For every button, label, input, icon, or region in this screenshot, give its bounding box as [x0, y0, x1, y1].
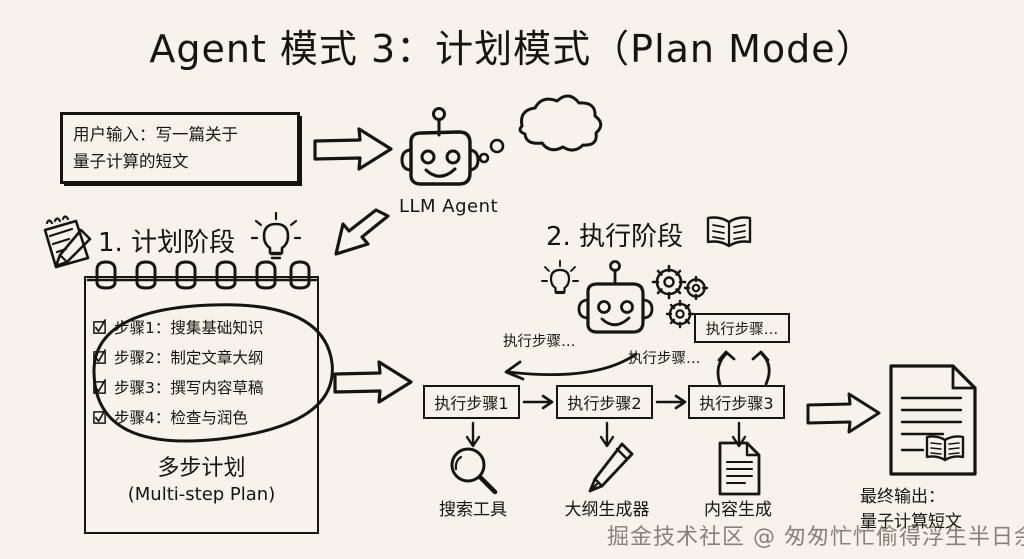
plan-step-label: 步骤2：制定文章大纲: [114, 346, 263, 368]
checkbox-checked-icon: [92, 410, 107, 425]
arrow-exec1-to-exec2: [523, 392, 555, 412]
exec-step-3-box[interactable]: 执行步骤3: [688, 385, 785, 419]
plan-footer: 多步计划 (Multi-step Plan): [84, 455, 319, 507]
tool-label-2: 大纲生成器: [551, 495, 663, 520]
user-input-text: 用户输入：写一篇关于 量子计算的短文: [73, 121, 238, 175]
watermark: 掘金技术社区 @ 匆匆忙忙偷得浮生半日余: [607, 519, 1024, 551]
user-input-line1: 用户输入：写一篇关于: [73, 121, 238, 148]
document-with-book-icon: [885, 362, 981, 480]
tool-label-1: 搜索工具: [425, 495, 521, 520]
plan-footer-en: (Multi-step Plan): [84, 483, 319, 507]
arrow-plan-to-exec: [332, 358, 414, 408]
user-input-box: 用户输入：写一篇关于 量子计算的短文: [60, 112, 300, 184]
exec-step-1-box[interactable]: 执行步骤1: [423, 385, 520, 419]
arrow-loop-up-pair: [704, 346, 784, 386]
checkbox-checked-icon: [92, 380, 107, 395]
plan-step-list: 步骤1：搜集基础知识 步骤2：制定文章大纲 步骤3：撰写内容草稿 步骤4：检查与…: [92, 312, 322, 432]
phase1-heading: 1. 计划阶段: [98, 222, 235, 259]
plan-step-label: 步骤1：搜集基础知识: [114, 316, 263, 338]
arrow-input-to-agent: [312, 126, 394, 174]
list-item[interactable]: 步骤3：撰写内容草稿: [92, 372, 322, 402]
plan-footer-cn: 多步计划: [84, 455, 319, 483]
list-item[interactable]: 步骤4：检查与润色: [92, 402, 322, 432]
final-output-line1: 最终输出：: [860, 485, 1024, 510]
checkbox-checked-icon: [92, 320, 107, 335]
document-icon: [714, 440, 764, 498]
exec-loop-box[interactable]: 执行步骤…: [694, 313, 790, 343]
page-title: Agent 模式 3：计划模式（Plan Mode）: [0, 18, 1024, 73]
pen-icon: [584, 440, 636, 496]
arrow-exec-to-output: [806, 390, 882, 438]
plan-step-label: 步骤4：检查与润色: [114, 406, 248, 428]
list-item[interactable]: 步骤2：制定文章大纲: [92, 342, 322, 372]
llm-agent-group: [398, 100, 608, 205]
list-item[interactable]: 步骤1：搜集基础知识: [92, 312, 322, 342]
arrow-feedback-loop: [490, 348, 640, 384]
phase2-heading: 2. 执行阶段: [546, 216, 683, 253]
open-book-icon: [706, 214, 752, 250]
llm-agent-label: LLM Agent: [399, 196, 498, 217]
plan-step-label: 步骤3：撰写内容草稿: [114, 376, 263, 398]
tool-label-3: 内容生成: [690, 495, 786, 520]
arrow-exec2-to-exec3: [656, 392, 688, 412]
checkbox-checked-icon: [92, 350, 107, 365]
diagram-canvas: Agent 模式 3：计划模式（Plan Mode） 用户输入：写一篇关于 量子…: [0, 0, 1024, 559]
user-input-line2: 量子计算的短文: [73, 148, 238, 175]
lightbulb-icon: [542, 261, 578, 293]
magnifier-icon: [445, 444, 501, 496]
lightbulb-icon: [252, 212, 300, 264]
exec-step-2-box[interactable]: 执行步骤2: [556, 385, 653, 419]
